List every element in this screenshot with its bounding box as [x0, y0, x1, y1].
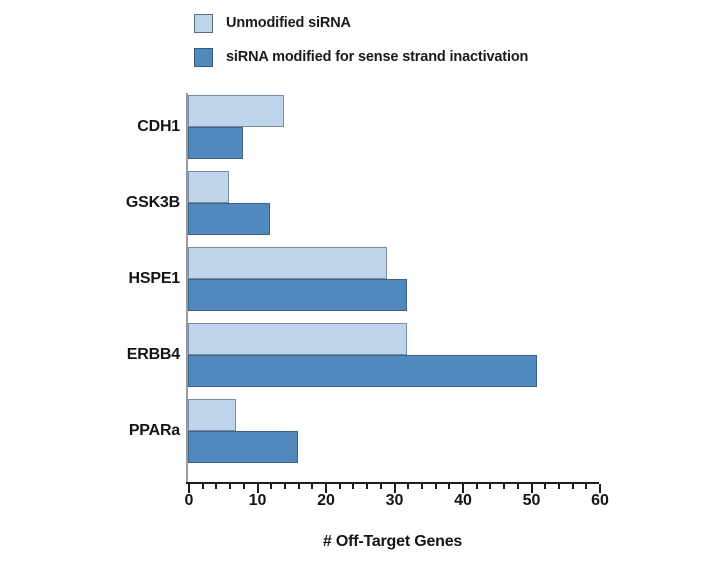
x-tick-22: [339, 484, 341, 489]
x-tick-14: [284, 484, 286, 489]
x-tick-46: [503, 484, 505, 489]
x-axis-title: # Off-Target Genes: [186, 533, 599, 551]
plot-area: CDH1 GSK3B HSPE1 ERBB4 PPARa 01020: [0, 0, 719, 561]
category-label-erbb4: ERBB4: [60, 347, 180, 363]
bar-hspe1-modified: [188, 279, 407, 311]
bar-gsk3b-modified: [188, 203, 270, 235]
x-tick-6: [229, 484, 231, 489]
x-tick-18: [311, 484, 313, 489]
x-tick-54: [558, 484, 560, 489]
bar-ppara-unmodified: [188, 399, 236, 431]
bar-hspe1-unmodified: [188, 247, 387, 279]
x-tick-34: [421, 484, 423, 489]
x-tick-56: [572, 484, 574, 489]
x-tick-44: [489, 484, 491, 489]
x-tick-label-60: 60: [591, 492, 609, 510]
x-tick-52: [544, 484, 546, 489]
x-tick-label-10: 10: [249, 492, 267, 510]
x-tick-label-0: 0: [185, 492, 194, 510]
x-tick-label-40: 40: [454, 492, 472, 510]
x-tick-8: [243, 484, 245, 489]
x-tick-label-30: 30: [386, 492, 404, 510]
bar-chart: Unmodified siRNA siRNA modified for sens…: [0, 0, 719, 561]
bar-erbb4-modified: [188, 355, 537, 387]
category-axis-labels: CDH1 GSK3B HSPE1 ERBB4 PPARa: [60, 95, 180, 479]
category-label-hspe1: HSPE1: [60, 271, 180, 287]
bar-gsk3b-unmodified: [188, 171, 229, 203]
x-tick-36: [435, 484, 437, 489]
x-axis-line: [186, 482, 599, 484]
bars-layer: [188, 95, 608, 479]
x-tick-58: [585, 484, 587, 489]
bar-cdh1-unmodified: [188, 95, 284, 127]
x-tick-28: [380, 484, 382, 489]
x-tick-12: [270, 484, 272, 489]
x-tick-48: [517, 484, 519, 489]
x-tick-2: [202, 484, 204, 489]
bar-ppara-modified: [188, 431, 298, 463]
x-tick-16: [298, 484, 300, 489]
bar-cdh1-modified: [188, 127, 243, 159]
x-tick-32: [407, 484, 409, 489]
x-tick-38: [448, 484, 450, 489]
x-tick-4: [215, 484, 217, 489]
x-tick-label-50: 50: [523, 492, 541, 510]
category-label-ppara: PPARa: [60, 423, 180, 439]
x-tick-24: [352, 484, 354, 489]
x-tick-26: [366, 484, 368, 489]
category-label-gsk3b: GSK3B: [60, 195, 180, 211]
category-label-cdh1: CDH1: [60, 119, 180, 135]
bar-erbb4-unmodified: [188, 323, 407, 355]
x-tick-42: [476, 484, 478, 489]
x-tick-label-20: 20: [317, 492, 335, 510]
